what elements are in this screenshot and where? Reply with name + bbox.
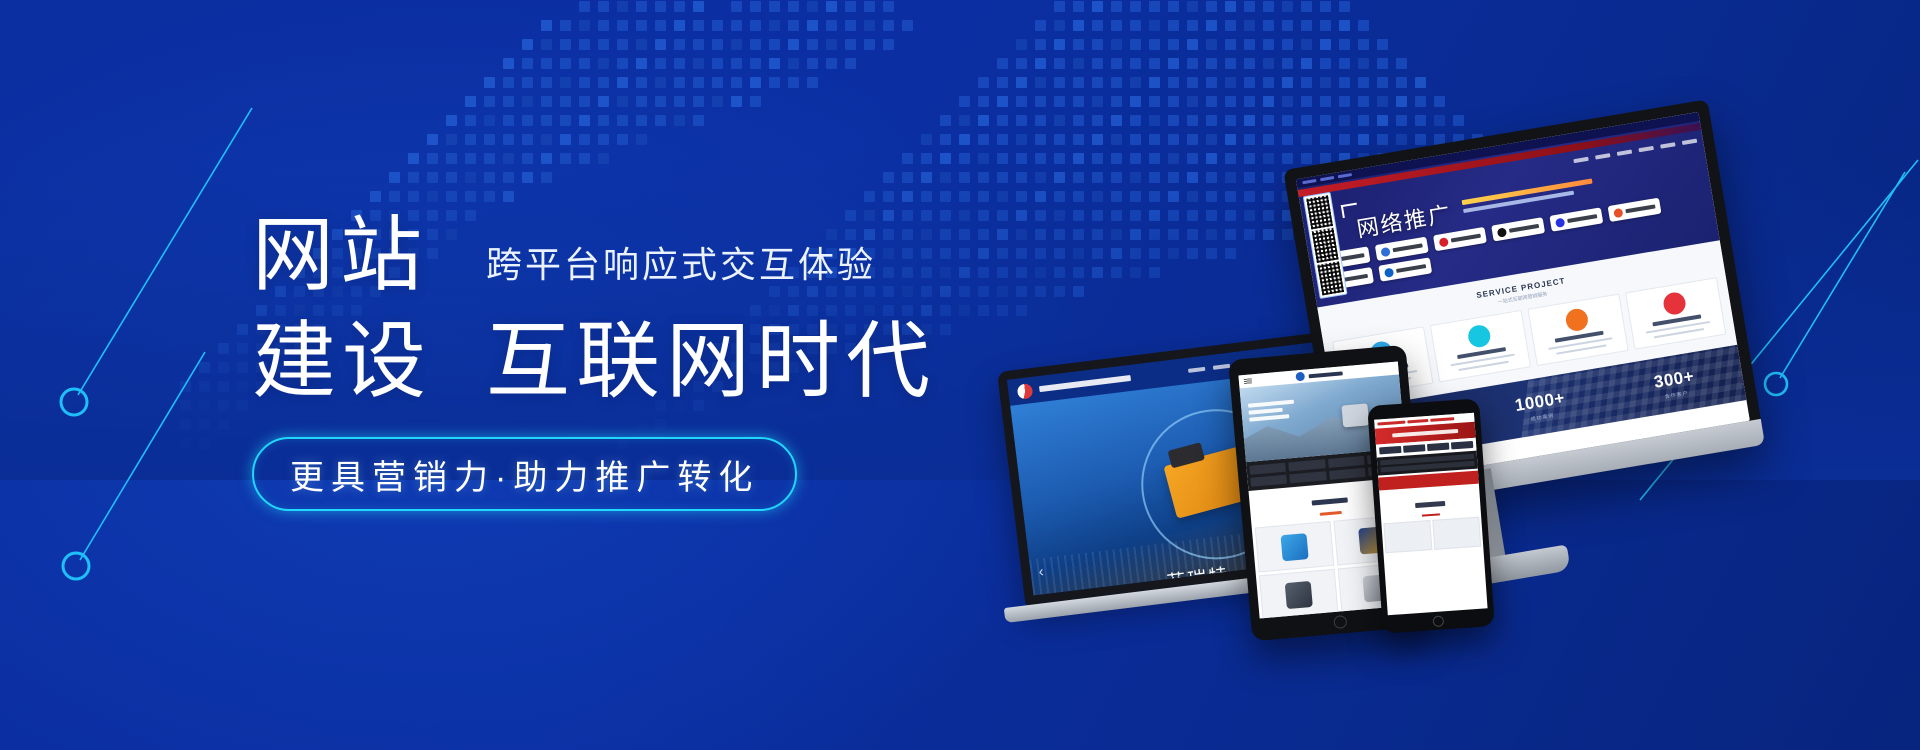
map-dot: [693, 39, 704, 50]
map-dot: [484, 77, 495, 88]
map-dot-empty: [351, 58, 362, 69]
map-dot-empty: [978, 39, 989, 50]
map-dot: [636, 58, 647, 69]
map-dot-empty: [921, 1, 932, 12]
map-dot-empty: [199, 115, 210, 126]
map-dot-empty: [294, 58, 305, 69]
map-dot-empty: [1453, 39, 1464, 50]
topbar-line: [1377, 421, 1405, 426]
map-dot-empty: [921, 58, 932, 69]
map-dot: [959, 115, 970, 126]
map-dot: [1092, 77, 1103, 88]
map-dot-empty: [180, 115, 191, 126]
map-dot-empty: [883, 153, 894, 164]
map-dot-empty: [1548, 58, 1559, 69]
map-dot-empty: [237, 191, 248, 202]
map-dot-empty: [237, 134, 248, 145]
map-dot: [427, 153, 438, 164]
map-dot: [484, 172, 495, 183]
map-dot-empty: [332, 191, 343, 202]
map-dot-empty: [275, 153, 286, 164]
laptop-site-name: [1039, 375, 1131, 392]
map-dot-empty: [674, 153, 685, 164]
headline-line-1: 网站 跨平台响应式交互体验: [252, 215, 1082, 297]
map-dot: [484, 115, 495, 126]
map-dot-empty: [674, 134, 685, 145]
map-dot: [1035, 77, 1046, 88]
map-dot: [1225, 39, 1236, 50]
map-dot-empty: [655, 191, 666, 202]
map-dot-empty: [1548, 1, 1559, 12]
map-dot: [997, 134, 1008, 145]
map-dot-empty: [199, 20, 210, 31]
map-dot: [902, 20, 913, 31]
map-dot: [427, 172, 438, 183]
map-dot: [1111, 1, 1122, 12]
map-dot: [864, 39, 875, 50]
map-dot-empty: [313, 115, 324, 126]
map-dot: [940, 115, 951, 126]
map-dot-empty: [180, 324, 191, 335]
map-dot-empty: [1567, 39, 1578, 50]
map-dot: [1282, 96, 1293, 107]
headline-line-2: 建设 互联网时代: [252, 319, 1082, 403]
map-dot: [1168, 77, 1179, 88]
map-dot: [1301, 96, 1312, 107]
map-dot: [465, 191, 476, 202]
map-dot-empty: [218, 96, 229, 107]
map-dot-empty: [1529, 39, 1540, 50]
map-dot-empty: [275, 58, 286, 69]
title-bar: [1415, 501, 1445, 508]
map-dot-empty: [199, 58, 210, 69]
map-dot-empty: [484, 1, 495, 12]
map-dot-empty: [1472, 39, 1483, 50]
map-dot: [959, 96, 970, 107]
map-dot: [921, 134, 932, 145]
map-dot-empty: [370, 115, 381, 126]
service-card: [1430, 310, 1531, 383]
map-dot-empty: [807, 153, 818, 164]
map-dot: [883, 191, 894, 202]
map-dot-empty: [503, 1, 514, 12]
map-dot-empty: [218, 248, 229, 259]
map-dot-empty: [1377, 1, 1388, 12]
map-dot: [370, 191, 381, 202]
map-dot: [864, 1, 875, 12]
map-dot-empty: [769, 172, 780, 183]
map-dot: [1206, 20, 1217, 31]
map-dot-empty: [1453, 58, 1464, 69]
map-dot-empty: [712, 153, 723, 164]
map-dot-empty: [807, 96, 818, 107]
map-dot: [769, 77, 780, 88]
text-line: [1248, 400, 1294, 408]
map-dot-empty: [294, 39, 305, 50]
map-dot-empty: [731, 191, 742, 202]
map-dot: [807, 77, 818, 88]
map-dot-empty: [180, 248, 191, 259]
map-dot-empty: [484, 20, 495, 31]
map-dot-empty: [921, 20, 932, 31]
map-dot: [826, 20, 837, 31]
map-dot-empty: [1700, 1, 1711, 12]
map-dot-empty: [845, 134, 856, 145]
map-dot-empty: [1586, 20, 1597, 31]
map-dot-empty: [370, 134, 381, 145]
map-dot-empty: [1510, 1, 1521, 12]
map-dot: [446, 191, 457, 202]
map-dot-empty: [674, 172, 685, 183]
topbar-item: [1338, 173, 1352, 178]
map-dot: [731, 20, 742, 31]
map-dot-empty: [655, 172, 666, 183]
map-dot-empty: [180, 1, 191, 12]
map-dot: [199, 381, 210, 392]
map-dot-empty: [332, 134, 343, 145]
map-dot-empty: [617, 191, 628, 202]
map-dot-row: [180, 77, 1738, 88]
map-dot: [1016, 39, 1027, 50]
map-dot: [959, 191, 970, 202]
map-dot: [1263, 20, 1274, 31]
map-dot: [636, 115, 647, 126]
map-dot: [560, 153, 571, 164]
map-dot-empty: [997, 1, 1008, 12]
map-dot: [522, 39, 533, 50]
map-dot: [788, 39, 799, 50]
map-dot-empty: [180, 343, 191, 354]
map-dot-empty: [712, 115, 723, 126]
map-dot-empty: [1700, 58, 1711, 69]
map-dot: [997, 77, 1008, 88]
map-dot: [636, 96, 647, 107]
channel-logo-icon: [1384, 267, 1394, 277]
map-dot-empty: [1624, 39, 1635, 50]
channel-badge: [1375, 237, 1429, 261]
topbar-line: [1407, 419, 1428, 423]
map-dot-empty: [712, 172, 723, 183]
map-dot: [750, 77, 761, 88]
map-dot-empty: [180, 153, 191, 164]
map-dot: [1358, 20, 1369, 31]
map-dot: [579, 58, 590, 69]
map-dot-empty: [1358, 1, 1369, 12]
map-dot-empty: [807, 172, 818, 183]
map-dot: [1130, 1, 1141, 12]
map-dot: [199, 362, 210, 373]
map-dot: [598, 134, 609, 145]
hero-line: [1392, 429, 1458, 438]
map-dot-empty: [902, 58, 913, 69]
product-tile: [1255, 521, 1334, 572]
map-dot: [1187, 77, 1198, 88]
map-dot: [997, 96, 1008, 107]
map-dot: [750, 39, 761, 50]
map-dot: [769, 1, 780, 12]
map-dot-row: [180, 1, 1738, 12]
map-dot: [1358, 39, 1369, 50]
map-dot: [674, 1, 685, 12]
map-dot-empty: [959, 20, 970, 31]
tab-item: [1427, 443, 1449, 452]
map-dot-empty: [1016, 1, 1027, 12]
map-dot-row: [180, 96, 1738, 107]
map-dot-empty: [1681, 1, 1692, 12]
map-dot-empty: [940, 20, 951, 31]
map-dot-empty: [256, 20, 267, 31]
map-dot-empty: [237, 286, 248, 297]
map-dot-empty: [864, 134, 875, 145]
map-dot-empty: [275, 1, 286, 12]
map-dot: [180, 438, 191, 449]
map-dot-empty: [1586, 39, 1597, 50]
headline-keyword-2: 建设: [252, 319, 432, 403]
map-dot: [218, 400, 229, 411]
map-dot-empty: [750, 153, 761, 164]
map-dot: [731, 58, 742, 69]
map-dot-empty: [332, 20, 343, 31]
map-dot-empty: [218, 210, 229, 221]
map-dot-empty: [370, 39, 381, 50]
map-dot-empty: [237, 172, 248, 183]
map-dot-empty: [199, 172, 210, 183]
map-dot: [1396, 58, 1407, 69]
map-dot-empty: [199, 305, 210, 316]
map-dot: [636, 77, 647, 88]
news-tile: [1432, 517, 1481, 550]
map-dot: [693, 58, 704, 69]
map-dot-empty: [1605, 1, 1616, 12]
service-card: [1527, 294, 1628, 367]
map-dot-empty: [1643, 39, 1654, 50]
map-dot-empty: [997, 39, 1008, 50]
map-dot: [1282, 1, 1293, 12]
map-dot-empty: [237, 115, 248, 126]
tablet-site-logo-icon: [1295, 372, 1305, 382]
map-dot: [1073, 20, 1084, 31]
map-dot: [1111, 58, 1122, 69]
map-dot-empty: [370, 153, 381, 164]
map-dot: [807, 1, 818, 12]
map-dot-empty: [313, 1, 324, 12]
map-dot-empty: [218, 58, 229, 69]
map-dot-empty: [313, 153, 324, 164]
map-dot-empty: [1681, 58, 1692, 69]
map-dot: [731, 77, 742, 88]
map-dot-empty: [1415, 1, 1426, 12]
map-dot: [1168, 39, 1179, 50]
map-dot-empty: [275, 191, 286, 202]
map-dot-empty: [598, 191, 609, 202]
map-dot-empty: [959, 1, 970, 12]
map-dot: [1168, 20, 1179, 31]
map-dot: [560, 77, 571, 88]
map-dot: [1358, 96, 1369, 107]
map-dot: [750, 96, 761, 107]
map-dot: [769, 20, 780, 31]
map-dot: [1054, 172, 1065, 183]
map-dot: [1244, 39, 1255, 50]
map-dot: [1054, 134, 1065, 145]
map-dot-empty: [1605, 77, 1616, 88]
map-dot-empty: [845, 96, 856, 107]
map-dot: [940, 134, 951, 145]
map-dot: [617, 115, 628, 126]
map-dot-empty: [655, 134, 666, 145]
map-dot-empty: [1624, 96, 1635, 107]
map-dot: [978, 191, 989, 202]
map-dot-empty: [1016, 20, 1027, 31]
map-dot-empty: [731, 115, 742, 126]
map-dot: [655, 58, 666, 69]
map-dot: [503, 134, 514, 145]
map-dot: [503, 96, 514, 107]
map-dot-empty: [351, 191, 362, 202]
map-dot: [731, 96, 742, 107]
map-dot: [1073, 96, 1084, 107]
map-dot: [1111, 77, 1122, 88]
map-dot-empty: [218, 438, 229, 449]
map-dot: [465, 172, 476, 183]
nav-tile: [1329, 468, 1366, 480]
map-dot: [541, 96, 552, 107]
map-dot: [1073, 58, 1084, 69]
map-dot: [902, 153, 913, 164]
map-dot-empty: [1586, 58, 1597, 69]
map-dot: [484, 134, 495, 145]
map-dot-empty: [693, 134, 704, 145]
map-dot: [788, 77, 799, 88]
map-dot: [503, 191, 514, 202]
map-dot: [1377, 77, 1388, 88]
map-dot: [617, 39, 628, 50]
map-dot: [731, 1, 742, 12]
map-dot: [1244, 96, 1255, 107]
map-dot-empty: [826, 191, 837, 202]
map-dot-empty: [389, 1, 400, 12]
map-dot-empty: [712, 191, 723, 202]
map-dot: [655, 96, 666, 107]
map-dot-empty: [408, 96, 419, 107]
topbar-item: [1320, 176, 1334, 181]
map-dot: [541, 153, 552, 164]
map-dot-empty: [370, 20, 381, 31]
map-dot-empty: [351, 115, 362, 126]
map-dot: [674, 58, 685, 69]
map-dot: [446, 134, 457, 145]
map-dot: [427, 191, 438, 202]
map-dot-empty: [408, 39, 419, 50]
map-dot-empty: [1472, 58, 1483, 69]
map-dot: [1187, 58, 1198, 69]
map-dot: [1054, 77, 1065, 88]
map-dot-empty: [1548, 77, 1559, 88]
map-dot: [484, 96, 495, 107]
map-dot-empty: [1719, 20, 1730, 31]
map-dot-empty: [731, 153, 742, 164]
map-dot-empty: [408, 115, 419, 126]
map-dot-empty: [940, 58, 951, 69]
map-dot-empty: [522, 191, 533, 202]
map-dot-empty: [560, 191, 571, 202]
map-dot: [1206, 96, 1217, 107]
product-image: [1280, 533, 1308, 561]
map-dot-empty: [541, 1, 552, 12]
map-dot-empty: [1643, 20, 1654, 31]
map-dot-empty: [465, 1, 476, 12]
map-dot: [1054, 153, 1065, 164]
map-dot: [218, 419, 229, 430]
map-dot: [579, 153, 590, 164]
map-dot: [617, 134, 628, 145]
map-dot-empty: [1681, 20, 1692, 31]
service-icon: [1661, 291, 1686, 316]
map-dot: [883, 1, 894, 12]
map-dot: [1054, 58, 1065, 69]
map-dot-empty: [218, 115, 229, 126]
map-dot: [1035, 58, 1046, 69]
map-dot-empty: [1567, 20, 1578, 31]
map-dot-empty: [465, 20, 476, 31]
map-dot-empty: [237, 229, 248, 240]
map-dot: [1054, 191, 1065, 202]
map-dot: [1187, 39, 1198, 50]
map-dot-empty: [522, 1, 533, 12]
map-dot: [997, 58, 1008, 69]
map-dot-empty: [199, 210, 210, 221]
map-dot-empty: [332, 58, 343, 69]
map-dot: [731, 39, 742, 50]
map-dot: [465, 134, 476, 145]
map-dot-empty: [294, 96, 305, 107]
map-dot: [617, 77, 628, 88]
map-dot-empty: [199, 153, 210, 164]
map-dot-empty: [636, 191, 647, 202]
map-dot: [237, 324, 248, 335]
map-dot-empty: [180, 58, 191, 69]
map-dot-empty: [484, 58, 495, 69]
map-dot: [1301, 1, 1312, 12]
map-dot-empty: [237, 267, 248, 278]
map-dot-empty: [1662, 77, 1673, 88]
map-dot: [1415, 96, 1426, 107]
map-dot-empty: [237, 419, 248, 430]
map-dot-empty: [218, 267, 229, 278]
map-dot-empty: [1700, 20, 1711, 31]
map-dot: [655, 77, 666, 88]
map-dot-empty: [864, 172, 875, 183]
tablet-site-name: [1308, 371, 1342, 378]
map-dot-empty: [921, 77, 932, 88]
map-dot: [1168, 1, 1179, 12]
map-dot-empty: [180, 210, 191, 221]
map-dot-empty: [275, 39, 286, 50]
map-dot: [1092, 39, 1103, 50]
nav-item: [1660, 142, 1675, 148]
map-dot-empty: [256, 191, 267, 202]
map-dot: [199, 419, 210, 430]
map-dot: [959, 153, 970, 164]
map-dot-empty: [256, 153, 267, 164]
channel-logo-icon: [1439, 237, 1449, 247]
nav-item: [1638, 146, 1653, 152]
map-dot-empty: [845, 191, 856, 202]
map-dot: [1168, 96, 1179, 107]
nav-tile: [1250, 475, 1287, 487]
map-dot-empty: [408, 77, 419, 88]
map-dot-empty: [180, 362, 191, 373]
